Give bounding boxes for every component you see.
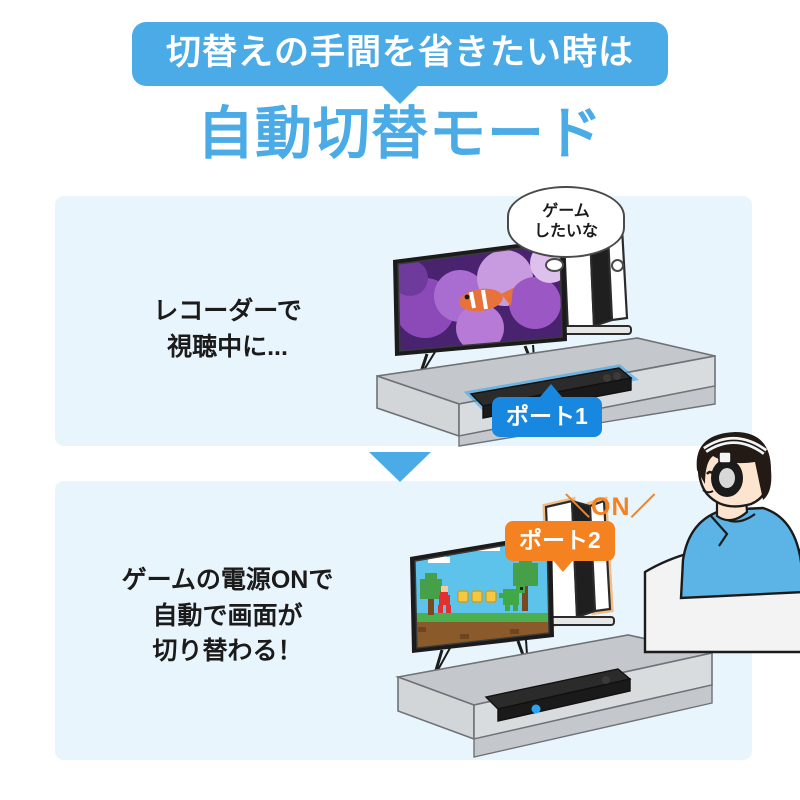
- infographic-page: 切替えの手間を省きたい時は 自動切替モード レコーダーで 視聴中に...: [0, 0, 800, 800]
- panel-1-caption: レコーダーで 視聴中に...: [100, 294, 355, 365]
- port-1-badge: ポート1: [492, 397, 602, 437]
- bubble-line-1: ゲーム: [542, 202, 590, 222]
- header-banner-text: 切替えの手間を省きたい時は: [132, 22, 668, 86]
- port-1-label: ポート1: [506, 403, 588, 429]
- page-title: 自動切替モード: [0, 106, 800, 163]
- bubble-dot-small: [611, 259, 624, 272]
- port-2-badge: ポート2: [505, 521, 615, 561]
- header-banner-group: 切替えの手間を省きたい時は: [0, 22, 800, 104]
- panel-recorder-viewing: レコーダーで 視聴中に...: [55, 196, 752, 446]
- port-2-badge-tail: [552, 559, 574, 572]
- person-watching-tv: [655, 422, 800, 647]
- bubble-line-2: したいな: [534, 222, 598, 242]
- on-indicator: ＼ON／: [565, 487, 657, 523]
- panel-2-caption: ゲームの電源ONで 自動で画面が 切り替わる！: [90, 563, 365, 670]
- port-2-label: ポート2: [519, 527, 601, 553]
- speech-bubble-panel-1: ゲーム したいな: [507, 186, 625, 258]
- flow-arrow-down-icon: [369, 452, 431, 482]
- bubble-dot-large: [545, 258, 564, 272]
- port-1-badge-tail: [540, 384, 562, 397]
